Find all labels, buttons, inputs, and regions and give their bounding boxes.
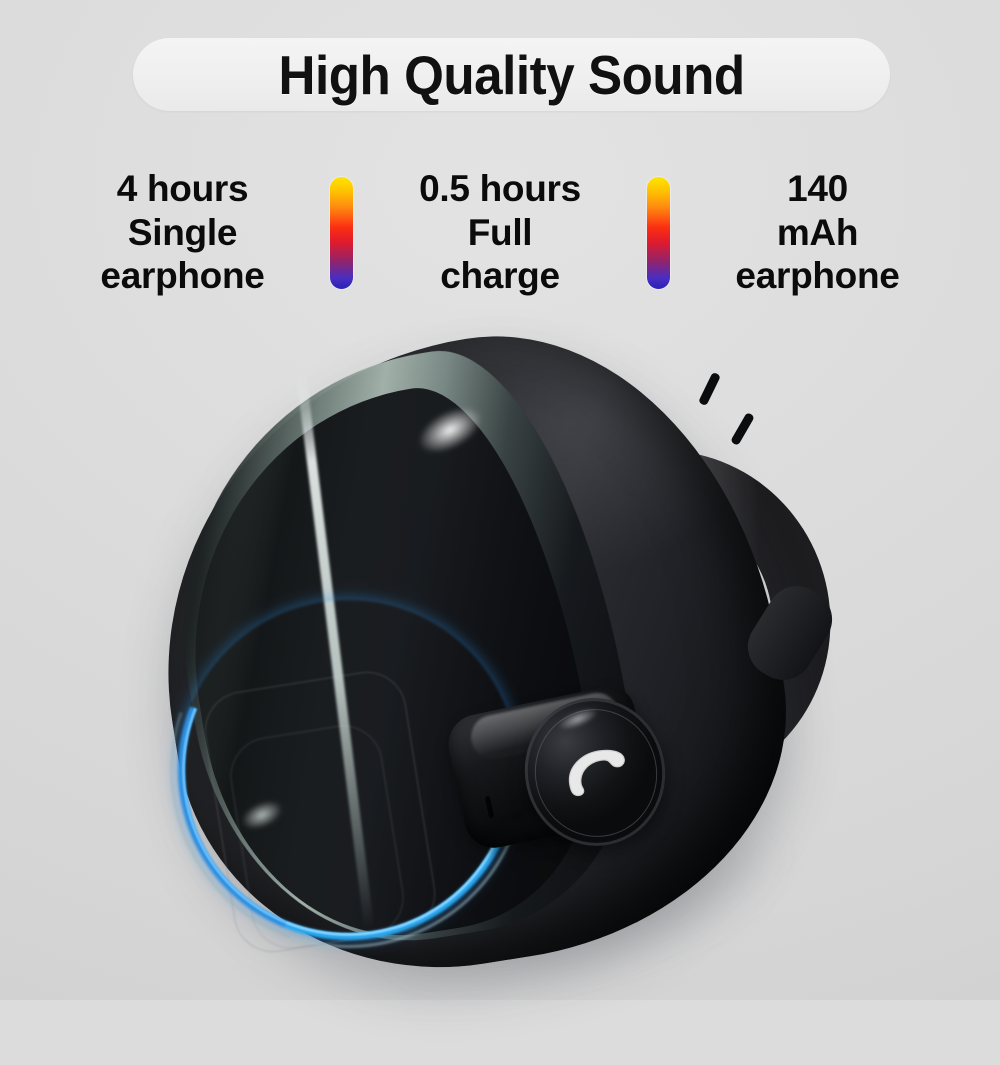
- spec-label-line2: Single: [128, 212, 237, 253]
- spec-item-capacity: 140 mAh earphone: [695, 168, 940, 296]
- spec-value: 0.5 hours: [419, 168, 581, 209]
- spec-item-battery-life: 4 hours Single earphone: [60, 168, 305, 296]
- page-title: High Quality Sound: [278, 43, 744, 107]
- spec-label-line2: Full: [468, 212, 533, 253]
- product-image-earphone: [0, 300, 1000, 1000]
- spec-item-charge-time: 0.5 hours Full charge: [378, 168, 623, 296]
- product-marketing-image: High Quality Sound 4 hours Single earpho…: [0, 0, 1000, 1000]
- gradient-divider-bar: [330, 177, 353, 289]
- spec-value: 4 hours: [117, 168, 249, 209]
- spec-label-line2: mAh: [777, 212, 858, 253]
- power-button[interactable]: [730, 412, 755, 446]
- phone-handset-icon: [555, 734, 637, 810]
- gradient-divider-bar: [647, 177, 670, 289]
- spec-value: 140: [787, 168, 848, 209]
- spec-label-line3: charge: [440, 255, 560, 296]
- spec-row: 4 hours Single earphone 0.5 hours Full c…: [60, 160, 940, 305]
- spec-label-line3: earphone: [100, 255, 264, 296]
- spec-label-line3: earphone: [735, 255, 899, 296]
- volume-button[interactable]: [698, 372, 721, 407]
- title-banner: High Quality Sound: [133, 38, 890, 111]
